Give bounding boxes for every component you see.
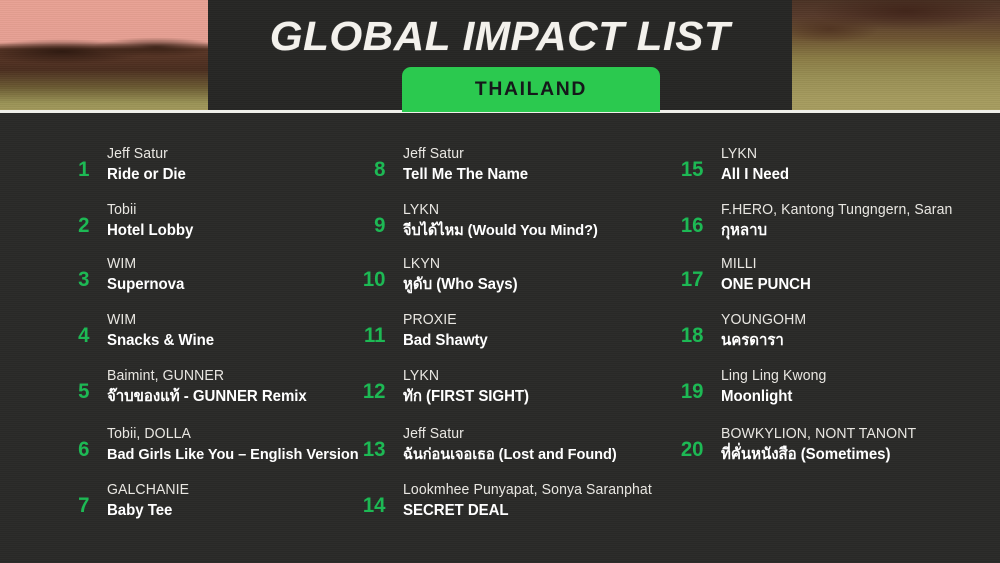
track-title: Tell Me The Name <box>403 165 528 185</box>
rank-number: 2 <box>57 201 90 236</box>
country-badge: THAILAND <box>402 67 660 112</box>
artist-name: WIM <box>107 311 214 330</box>
list-item[interactable]: 8Jeff SaturTell Me The Name <box>352 145 532 185</box>
page-title: GLOBAL IMPACT LIST <box>199 12 801 60</box>
rank-number: 7 <box>57 481 90 516</box>
track-title: Moonlight <box>721 387 826 407</box>
list-item[interactable]: 14Lookmhee Punyapat, Sonya SaranphatSECR… <box>352 481 660 521</box>
artist-name: Ling Ling Kwong <box>721 367 826 386</box>
rank-number: 14 <box>353 481 386 516</box>
track-title: ที่คั่นหนังสือ (Sometimes) <box>721 445 916 465</box>
track-meta: GALCHANIEBaby Tee <box>90 481 192 521</box>
list-item[interactable]: 1Jeff SaturRide or Die <box>56 145 188 185</box>
list-item[interactable]: 17MILLIONE PUNCH <box>670 255 814 295</box>
track-meta: Lookmhee Punyapat, Sonya SaranphatSECRET… <box>386 481 660 521</box>
track-title: Bad Girls Like You – English Version <box>107 445 359 465</box>
track-title: Snacks & Wine <box>107 331 214 351</box>
track-title: Supernova <box>107 275 184 295</box>
track-title: SECRET DEAL <box>403 501 652 521</box>
rank-number: 3 <box>57 255 90 290</box>
artist-name: MILLI <box>721 255 811 274</box>
rank-number: 9 <box>353 201 386 236</box>
artist-name: Tobii, DOLLA <box>107 425 359 444</box>
list-item[interactable]: 20BOWKYLION, NONT TANONTที่คั่นหนังสือ (… <box>670 425 922 465</box>
artist-name: LKYN <box>403 255 518 274</box>
track-title: Ride or Die <box>107 165 186 185</box>
track-meta: LYKNทัก (FIRST SIGHT) <box>386 367 533 407</box>
track-title: Bad Shawty <box>403 331 488 351</box>
track-title: Baby Tee <box>107 501 189 521</box>
artist-name: YOUNGOHM <box>721 311 806 330</box>
list-item[interactable]: 5Baimint, GUNNERจ๊าบของแท้ - GUNNER Remi… <box>56 367 313 407</box>
artist-name: PROXIE <box>403 311 488 330</box>
track-meta: BOWKYLION, NONT TANONTที่คั่นหนังสือ (So… <box>704 425 922 465</box>
rank-number: 18 <box>671 311 704 346</box>
list-item[interactable]: 15LYKNAll I Need <box>670 145 791 185</box>
list-item[interactable]: 10LKYNหูดับ (Who Says) <box>352 255 521 295</box>
track-meta: Jeff Saturฉันก่อนเจอเธอ (Lost and Found) <box>386 425 623 465</box>
rank-number: 11 <box>353 311 386 346</box>
list-item[interactable]: 3WIMSupernova <box>56 255 187 295</box>
artist-name: F.HERO, Kantong Tungngern, Saran <box>721 201 952 220</box>
chart-column-3: 15LYKNAll I Need16F.HERO, Kantong Tungng… <box>670 113 990 563</box>
track-meta: Jeff SaturRide or Die <box>90 145 188 185</box>
track-meta: Jeff SaturTell Me The Name <box>386 145 532 185</box>
list-item[interactable]: 11PROXIEBad Shawty <box>352 311 490 351</box>
track-meta: LKYNหูดับ (Who Says) <box>386 255 521 295</box>
track-title: All I Need <box>721 165 789 185</box>
track-title: จ๊าบของแท้ - GUNNER Remix <box>107 387 307 407</box>
chart-list: 1Jeff SaturRide or Die2TobiiHotel Lobby3… <box>0 113 1000 563</box>
track-title: ทัก (FIRST SIGHT) <box>403 387 529 407</box>
list-item[interactable]: 12LYKNทัก (FIRST SIGHT) <box>352 367 533 407</box>
rank-number: 6 <box>57 425 90 460</box>
rank-number: 10 <box>353 255 386 290</box>
list-item[interactable]: 4WIMSnacks & Wine <box>56 311 217 351</box>
track-meta: MILLIONE PUNCH <box>704 255 814 295</box>
track-meta: WIMSupernova <box>90 255 187 295</box>
track-meta: Ling Ling KwongMoonlight <box>704 367 830 407</box>
artist-name: LYKN <box>721 145 789 164</box>
track-title: หูดับ (Who Says) <box>403 275 518 295</box>
artist-name: Tobii <box>107 201 193 220</box>
chart-column-1: 1Jeff SaturRide or Die2TobiiHotel Lobby3… <box>56 113 356 563</box>
rank-number: 20 <box>671 425 704 460</box>
list-item[interactable]: 6Tobii, DOLLABad Girls Like You – Englis… <box>56 425 366 465</box>
track-title: กุหลาบ <box>721 221 952 241</box>
track-title: ฉันก่อนเจอเธอ (Lost and Found) <box>403 445 617 465</box>
track-title: นครดารา <box>721 331 806 351</box>
rank-number: 17 <box>671 255 704 290</box>
chart-column-2: 8Jeff SaturTell Me The Name9LYKNจีบได้ไห… <box>352 113 652 563</box>
track-meta: F.HERO, Kantong Tungngern, Saranกุหลาบ <box>704 201 960 241</box>
artist-name: GALCHANIE <box>107 481 189 500</box>
track-meta: Baimint, GUNNERจ๊าบของแท้ - GUNNER Remix <box>90 367 313 407</box>
list-item[interactable]: 7GALCHANIEBaby Tee <box>56 481 192 521</box>
track-title: ONE PUNCH <box>721 275 811 295</box>
country-badge-label: THAILAND <box>475 79 587 101</box>
list-item[interactable]: 13Jeff Saturฉันก่อนเจอเธอ (Lost and Foun… <box>352 425 623 465</box>
rank-number: 4 <box>57 311 90 346</box>
artist-name: Baimint, GUNNER <box>107 367 307 386</box>
list-item[interactable]: 18YOUNGOHMนครดารา <box>670 311 809 351</box>
artist-name: Jeff Satur <box>403 145 528 164</box>
track-meta: TobiiHotel Lobby <box>90 201 196 241</box>
global-impact-list-graphic: GLOBAL IMPACT LIST THAILAND 1Jeff SaturR… <box>0 0 1000 563</box>
rank-number: 12 <box>353 367 386 402</box>
artist-name: Jeff Satur <box>107 145 186 164</box>
rank-number: 15 <box>671 145 704 180</box>
rank-number: 19 <box>671 367 704 402</box>
rank-number: 16 <box>671 201 704 236</box>
rank-number: 1 <box>57 145 90 180</box>
rank-number: 5 <box>57 367 90 402</box>
header-photo-left <box>0 0 208 112</box>
list-item[interactable]: 2TobiiHotel Lobby <box>56 201 196 241</box>
rank-number: 13 <box>353 425 386 460</box>
rank-number: 8 <box>353 145 386 180</box>
track-meta: Tobii, DOLLABad Girls Like You – English… <box>90 425 366 465</box>
artist-name: Jeff Satur <box>403 425 617 444</box>
list-item[interactable]: 19Ling Ling KwongMoonlight <box>670 367 830 407</box>
artist-name: LYKN <box>403 201 598 220</box>
track-meta: LYKNจีบได้ไหม (Would You Mind?) <box>386 201 604 241</box>
track-title: Hotel Lobby <box>107 221 193 241</box>
track-meta: PROXIEBad Shawty <box>386 311 490 351</box>
track-title: จีบได้ไหม (Would You Mind?) <box>403 221 598 241</box>
track-meta: YOUNGOHMนครดารา <box>704 311 809 351</box>
list-item[interactable]: 16F.HERO, Kantong Tungngern, Saranกุหลาบ <box>670 201 960 241</box>
track-meta: LYKNAll I Need <box>704 145 791 185</box>
header-photo-right <box>792 0 1000 112</box>
list-item[interactable]: 9LYKNจีบได้ไหม (Would You Mind?) <box>352 201 604 241</box>
artist-name: WIM <box>107 255 184 274</box>
artist-name: LYKN <box>403 367 529 386</box>
artist-name: BOWKYLION, NONT TANONT <box>721 425 916 444</box>
track-meta: WIMSnacks & Wine <box>90 311 217 351</box>
artist-name: Lookmhee Punyapat, Sonya Saranphat <box>403 481 652 500</box>
